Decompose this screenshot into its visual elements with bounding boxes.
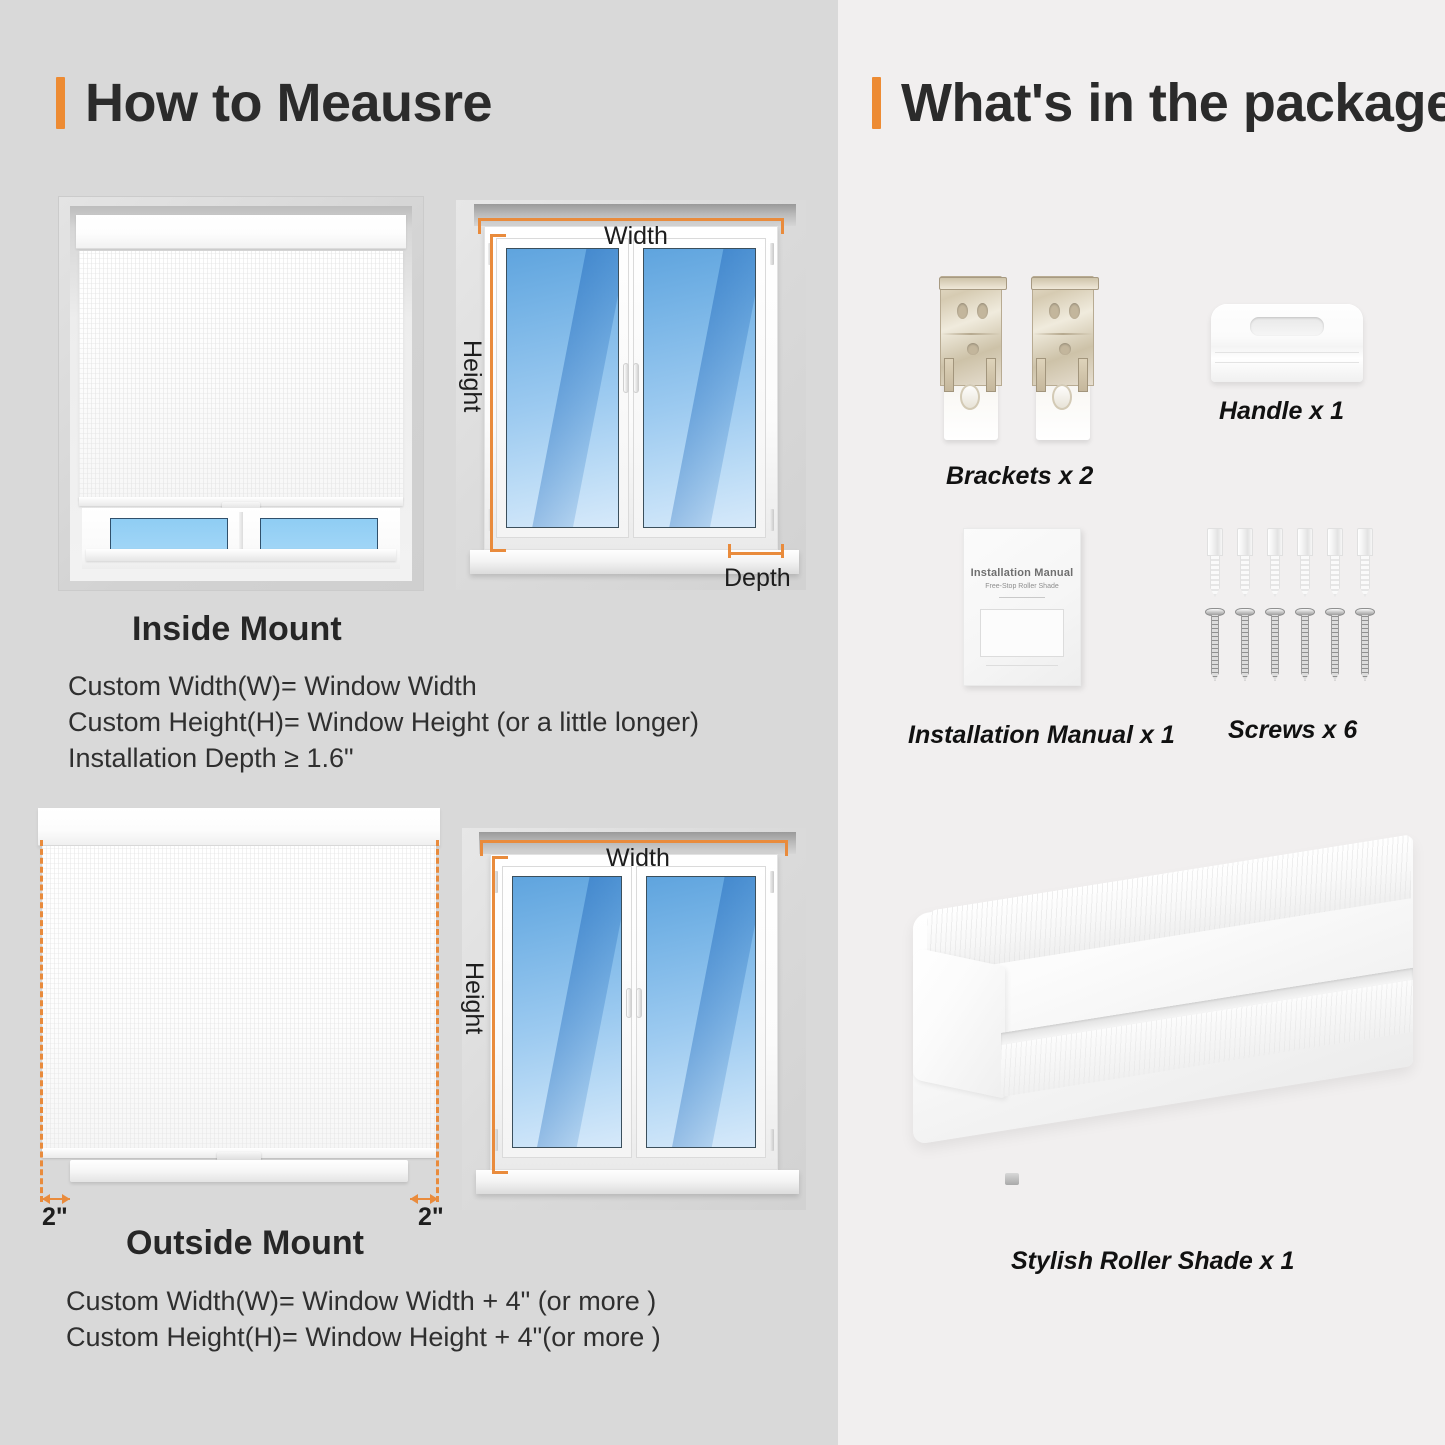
bracket-hole [1049, 303, 1060, 319]
installation-manual-illustration: Installation Manual Free-Stop Roller Sha… [963, 528, 1081, 686]
handle-seam [1215, 352, 1359, 353]
anchor-body [1270, 555, 1280, 597]
screw-head [1235, 608, 1255, 616]
window-glass-left [506, 248, 619, 528]
manual-cover-subtitle: Free-Stop Roller Shade [964, 583, 1080, 590]
overhang-arrow-right [410, 1198, 438, 1200]
shade-fabric [42, 846, 436, 1154]
overhang-arrow-left [42, 1198, 70, 1200]
heading-label: How to Meausre [85, 72, 492, 134]
width-dimension-cap-left [480, 840, 483, 856]
brackets-illustration [930, 272, 1130, 452]
shade-fabric [79, 251, 403, 499]
roller-shade-label: Stylish Roller Shade x 1 [1011, 1247, 1294, 1276]
bracket-clip-oval [960, 384, 980, 410]
accent-bar-icon [56, 77, 65, 129]
bracket-right [1030, 272, 1096, 442]
shade-valance [76, 215, 406, 249]
inside-mount-window-diagram: Width Height Depth [456, 200, 806, 590]
width-dimension-line [478, 218, 784, 221]
how-to-measure-panel: How to Meausre [0, 0, 838, 1445]
glass-reflection [664, 876, 757, 1148]
bracket-slot [944, 358, 954, 392]
spec-line: Custom Height(H)= Window Height + 4"(or … [66, 1319, 661, 1355]
glass-reflection [524, 248, 619, 528]
outside-mount-window-diagram: Width Height [462, 828, 806, 1210]
exposed-window-strip [82, 508, 400, 569]
installation-manual-label: Installation Manual x 1 [908, 721, 1175, 750]
screw-head [1325, 608, 1345, 616]
bracket-hole [967, 343, 979, 355]
screw-shaft [1361, 615, 1369, 681]
glass-reflection [529, 876, 622, 1148]
anchor-head [1327, 528, 1343, 556]
screw-head [1295, 608, 1315, 616]
bracket-ridge [941, 333, 1001, 335]
anchor-head [1357, 528, 1373, 556]
screw-shaft [1241, 615, 1249, 681]
bracket-slot [986, 358, 996, 392]
overhang-label-right: 2" [418, 1203, 444, 1232]
height-label: Height [457, 340, 486, 412]
infographic-page: How to Meausre [0, 0, 1445, 1445]
package-heading: What's in the package [872, 72, 1445, 134]
anchor-head [1267, 528, 1283, 556]
window-sash-right [633, 238, 766, 538]
screw-shaft [1331, 615, 1339, 681]
hinge-bottom-right [770, 1129, 774, 1151]
window-sash-right [636, 866, 766, 1158]
spec-line: Custom Height(H)= Window Height (or a li… [68, 704, 699, 740]
anchor-head [1297, 528, 1313, 556]
overhang-guide-right [436, 840, 439, 1202]
bracket-slot [1078, 358, 1088, 392]
depth-dimension-cap-inner [728, 544, 731, 558]
window-handle-right [636, 988, 642, 1018]
height-dimension-line [490, 234, 493, 552]
width-dimension-cap-right [785, 840, 788, 856]
anchor-body [1330, 555, 1340, 597]
window-sash-left [496, 238, 629, 538]
screw-shaft [1271, 615, 1279, 681]
window-handles [623, 363, 639, 393]
inside-mount-title: Inside Mount [132, 610, 342, 649]
window-glass-left [512, 876, 622, 1148]
outside-mount-title: Outside Mount [126, 1224, 364, 1263]
spec-line: Custom Width(W)= Window Width [68, 668, 699, 704]
depth-dimension-line [728, 552, 784, 555]
inside-mount-shade-illustration [58, 196, 424, 591]
bracket-hole [1069, 303, 1080, 319]
glass-reflection [661, 248, 756, 528]
spec-line: Installation Depth ≥ 1.6" [68, 740, 699, 776]
screws-illustration [1203, 528, 1383, 688]
screw-shaft [1301, 615, 1309, 681]
anchor-head [1237, 528, 1253, 556]
anchor-head [1207, 528, 1223, 556]
heading-label: What's in the package [901, 72, 1445, 134]
window-outer-frame [490, 854, 779, 1170]
width-dimension-cap-left [478, 218, 481, 234]
window-sill [86, 549, 396, 561]
spec-line: Custom Width(W)= Window Width + 4" (or m… [66, 1283, 661, 1319]
screw-head [1265, 608, 1285, 616]
window-handle-left [623, 363, 629, 393]
window-sash-left [502, 866, 632, 1158]
how-to-measure-heading: How to Meausre [56, 72, 492, 134]
anchor-body [1360, 555, 1370, 597]
hinge-bottom-right [770, 509, 774, 531]
overhang-guide-left [40, 840, 43, 1202]
window-outer-frame [484, 226, 778, 550]
manual-cover-footer-line [986, 665, 1058, 666]
bracket-slot [1036, 358, 1046, 392]
shade-valance [38, 808, 440, 846]
depth-dimension-cap-outer [781, 544, 784, 558]
height-dimension-cap-bottom [492, 1171, 508, 1174]
height-dimension-cap-bottom [490, 549, 506, 552]
manual-cover-title: Installation Manual [964, 567, 1080, 579]
window-handle-right [633, 363, 639, 393]
width-label: Width [606, 844, 670, 873]
anchor-body [1300, 555, 1310, 597]
height-dimension-cap-top [492, 856, 508, 859]
handle-illustration [1211, 304, 1363, 382]
overhang-label-left: 2" [42, 1203, 68, 1232]
outside-mount-shade-illustration [38, 808, 440, 1198]
bracket-hole [1059, 343, 1071, 355]
roller-shade-end-cap [913, 947, 1005, 1099]
roller-shade-pin [1005, 1173, 1019, 1185]
bracket-left [938, 272, 1004, 442]
depth-label: Depth [724, 564, 791, 593]
bracket-top-flange [1031, 277, 1099, 290]
width-dimension-line [480, 840, 788, 843]
inside-mount-specs: Custom Width(W)= Window Width Custom Hei… [68, 668, 699, 776]
screw-shaft [1211, 615, 1219, 681]
screw-head [1205, 608, 1225, 616]
height-label: Height [459, 962, 488, 1034]
handle-grip-slot [1250, 317, 1324, 336]
screw-head [1355, 608, 1375, 616]
width-dimension-cap-right [781, 218, 784, 234]
roller-shade-product-illustration [905, 885, 1415, 1205]
handle-seam [1215, 362, 1359, 363]
height-dimension-cap-top [490, 234, 506, 237]
window-sill [70, 1160, 408, 1182]
window-handles [626, 988, 642, 1018]
accent-bar-icon [872, 77, 881, 129]
width-label: Width [604, 222, 668, 251]
bracket-hole [977, 303, 988, 319]
handle-label: Handle x 1 [1219, 397, 1344, 426]
window-glass-right [646, 876, 756, 1148]
brackets-label: Brackets x 2 [946, 462, 1093, 491]
window-sill-board [476, 1170, 799, 1194]
hinge-top-right [770, 871, 774, 893]
height-dimension-line [492, 856, 495, 1174]
manual-cover-diagram [980, 609, 1064, 657]
bracket-top-flange [939, 277, 1007, 290]
outside-mount-specs: Custom Width(W)= Window Width + 4" (or m… [66, 1283, 661, 1355]
anchor-body [1210, 555, 1220, 597]
window-recess [70, 206, 412, 581]
bracket-clip-oval [1052, 384, 1072, 410]
manual-cover-line [999, 597, 1045, 598]
hinge-top-right [770, 243, 774, 265]
window-glass-right [643, 248, 756, 528]
bracket-hole [957, 303, 968, 319]
anchor-body [1240, 555, 1250, 597]
bracket-ridge [1033, 333, 1093, 335]
screws-label: Screws x 6 [1228, 716, 1357, 745]
window-handle-left [626, 988, 632, 1018]
